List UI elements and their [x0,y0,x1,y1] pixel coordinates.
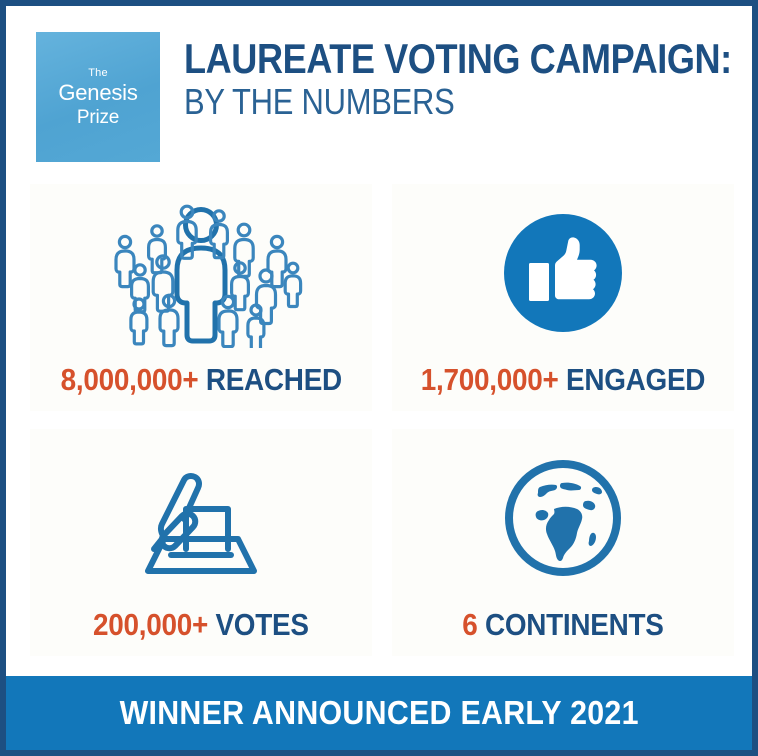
stat-label-engaged: 1,700,000+ ENGAGED [421,362,705,398]
stat-card-votes: 200,000+ VOTES [30,429,372,656]
footer-banner: WINNER ANNOUNCED EARLY 2021 [6,676,752,750]
stat-word-votes: VOTES [216,607,309,642]
stat-card-engaged: 1,700,000+ ENGAGED [392,184,734,411]
header: The Genesis Prize LAUREATE VOTING CAMPAI… [6,6,752,178]
stat-number-continents: 6 [462,607,477,642]
stat-number-votes: 200,000+ [93,607,208,642]
footer-announcement-text: WINNER ANNOUNCED EARLY 2021 [119,694,638,732]
stat-label-continents: 6 CONTINENTS [462,607,663,643]
ballot-box-icon [126,443,276,593]
stat-word-reached: REACHED [206,362,342,397]
stat-label-votes: 200,000+ VOTES [93,607,309,643]
page-subtitle: BY THE NUMBERS [184,83,732,121]
genesis-prize-logo: The Genesis Prize [36,32,160,162]
stat-label-reached: 8,000,000+ REACHED [60,362,341,398]
page-title: LAUREATE VOTING CAMPAIGN: [184,38,732,79]
logo-line-prize: Prize [77,108,119,127]
crowd-of-people-icon [95,198,307,348]
infographic-root: The Genesis Prize LAUREATE VOTING CAMPAI… [0,0,758,756]
stat-number-engaged: 1,700,000+ [421,362,559,397]
logo-line-the: The [88,68,108,79]
stat-word-continents: CONTINENTS [485,607,664,642]
title-block: LAUREATE VOTING CAMPAIGN: BY THE NUMBERS [184,38,758,121]
thumbs-up-icon [501,198,625,348]
stat-word-engaged: ENGAGED [566,362,705,397]
globe-icon [502,443,624,593]
logo-line-genesis: Genesis [58,82,137,104]
stat-card-reached: 8,000,000+ REACHED [30,184,372,411]
stat-number-reached: 8,000,000+ [60,362,198,397]
stats-grid: 8,000,000+ REACHED 1,700,000+ ENGAGED [30,184,734,656]
stat-card-continents: 6 CONTINENTS [392,429,734,656]
